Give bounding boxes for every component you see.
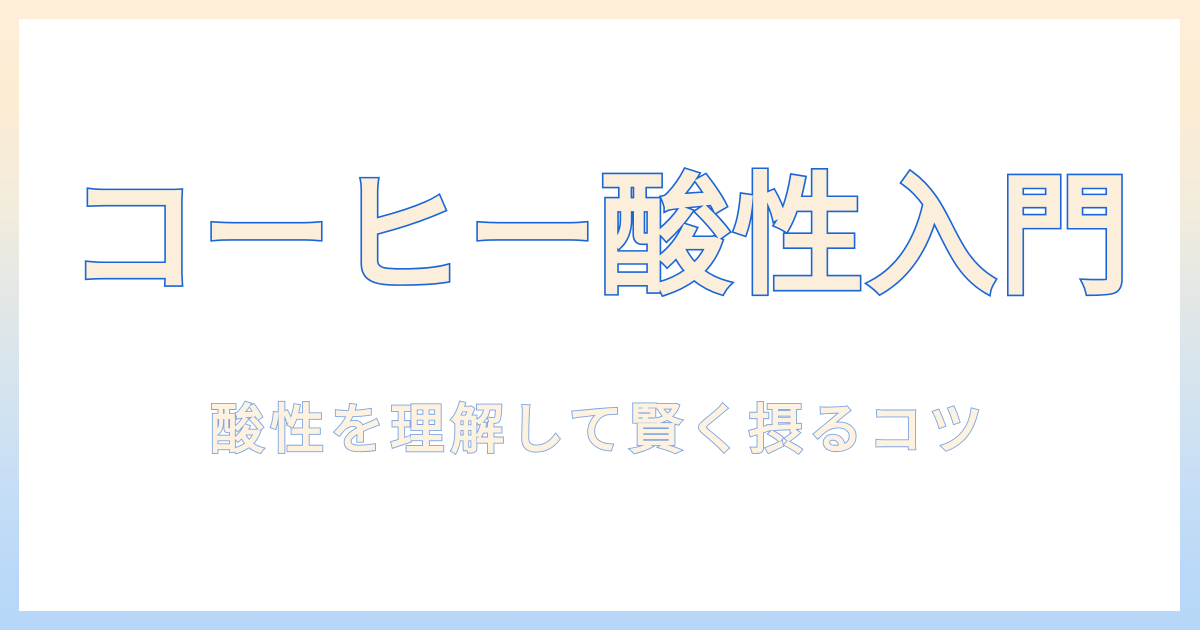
page-subtitle: 酸性を理解して賢く摂るコツ <box>210 399 988 461</box>
banner-frame: コーヒー酸性入門 酸性を理解して賢く摂るコツ <box>0 0 1200 630</box>
page-title: コーヒー酸性入門 <box>68 168 1132 307</box>
subtitle-container: 酸性を理解して賢く摂るコツ <box>19 399 1180 461</box>
banner-card: コーヒー酸性入門 酸性を理解して賢く摂るコツ <box>19 19 1180 611</box>
title-container: コーヒー酸性入門 <box>19 168 1180 307</box>
